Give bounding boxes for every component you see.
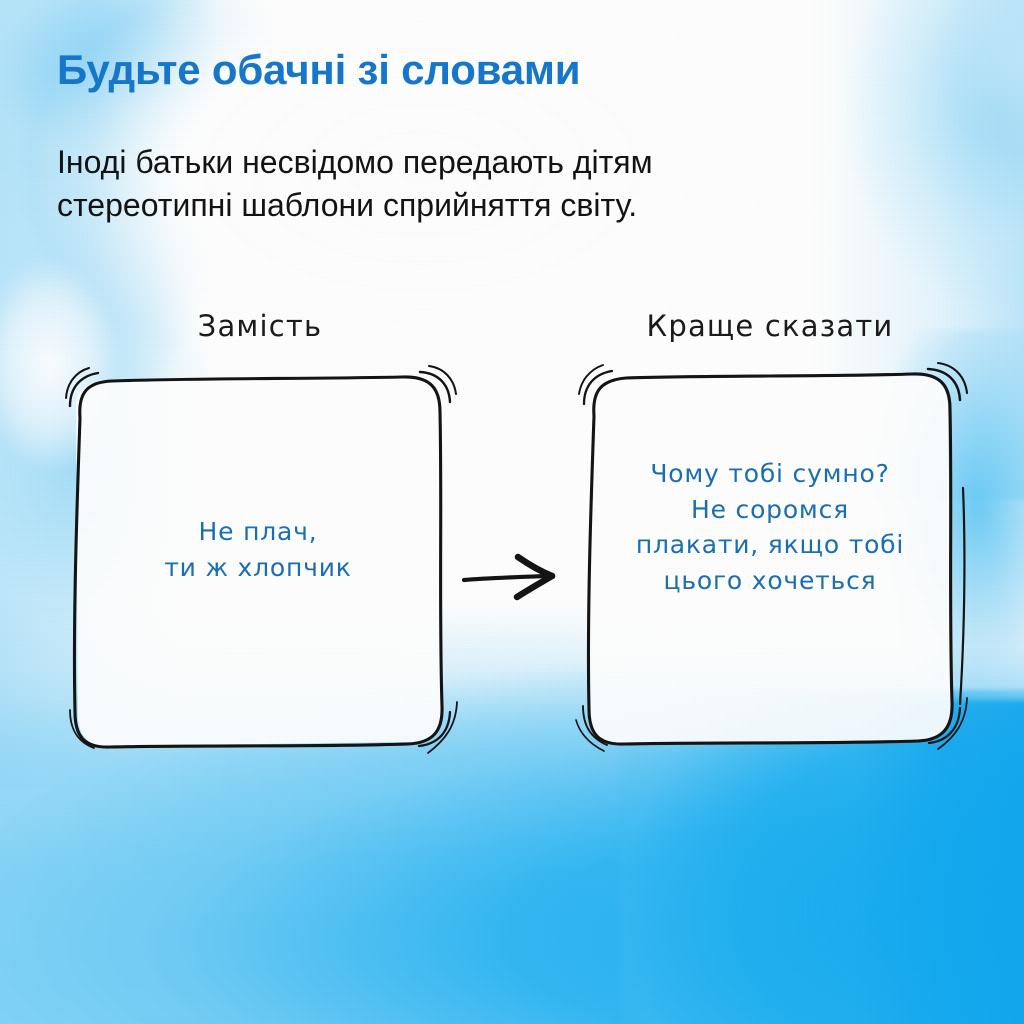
column-heading-instead: Замість: [75, 309, 445, 343]
arrow-right-icon: [460, 545, 570, 615]
subtitle-line-1: Іноді батьки несвідомо передають дітям: [57, 141, 937, 184]
comparison-card-instead: Не плач, ти ж хлопчик: [58, 362, 458, 762]
column-heading-better-to-say: Краще сказати: [585, 309, 955, 343]
subtitle-line-2: стереотипні шаблони сприйняття світу.: [57, 184, 937, 227]
better-line-3: плакати, якщо тобі: [570, 527, 970, 563]
better-line-2: Не соромся: [570, 492, 970, 528]
card-text-better: Чому тобі сумно? Не соромся плакати, якщ…: [570, 456, 970, 598]
card-text-instead: Не плач, ти ж хлопчик: [58, 514, 458, 585]
page-title: Будьте обачні зі словами: [57, 46, 957, 93]
better-line-4: цього хочеться: [570, 563, 970, 599]
instead-line-1: Не плач,: [58, 514, 458, 550]
infographic-canvas: Будьте обачні зі словами Іноді батьки не…: [0, 0, 1024, 1024]
better-line-1: Чому тобі сумно?: [570, 456, 970, 492]
page-subtitle: Іноді батьки несвідомо передають дітям с…: [57, 141, 937, 227]
comparison-card-better: Чому тобі сумно? Не соромся плакати, якщ…: [570, 360, 970, 760]
instead-line-2: ти ж хлопчик: [58, 550, 458, 586]
